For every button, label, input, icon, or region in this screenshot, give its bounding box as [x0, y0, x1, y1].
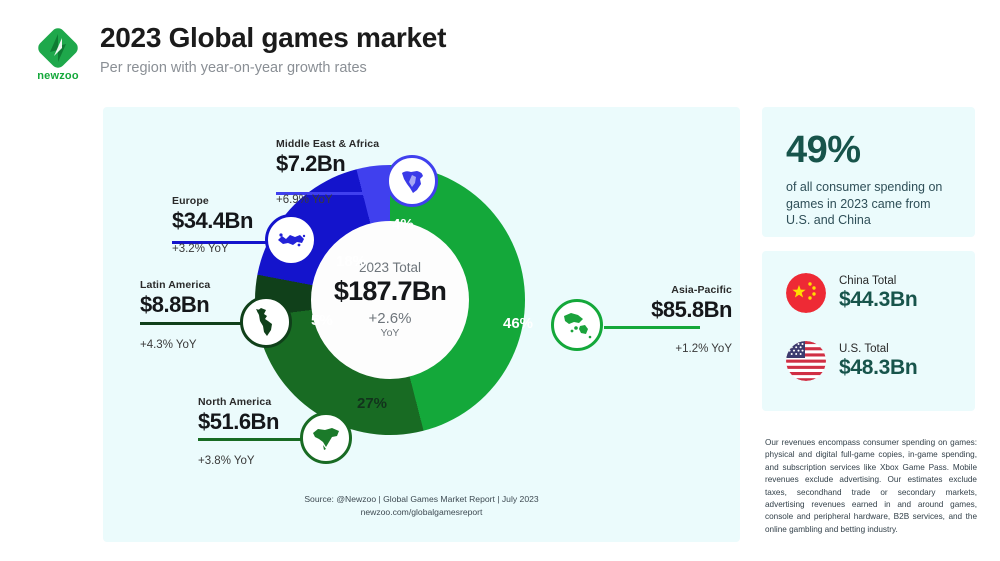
center-growth-value: +2.6%	[369, 310, 412, 327]
logo-wordmark: newzoo	[28, 70, 88, 82]
callout-yoy-latin-america: +4.3% YoY	[140, 339, 197, 351]
connector-asia-pacific	[604, 326, 700, 329]
callout-region-asia-pacific: Asia-Pacific	[612, 284, 732, 296]
callout-value-europe: $34.4Bn	[172, 208, 287, 234]
marker-asia-pacific	[551, 299, 603, 351]
callout-north-america: North America $51.6Bn	[198, 396, 318, 435]
country-row-usa: U.S. Total $48.3Bn	[786, 341, 917, 381]
source-line-2: newzoo.com/globalgamesreport	[103, 506, 740, 519]
country-label-china: China Total	[839, 275, 917, 287]
highlight-panel: 49% of all consumer spending on games in…	[762, 107, 975, 237]
segment-share-europe: 18%	[336, 253, 366, 270]
callout-region-latin-america: Latin America	[140, 279, 255, 291]
highlight-description: of all consumer spending on games in 202…	[786, 179, 958, 229]
newzoo-logo: newzoo	[28, 26, 88, 88]
callout-yoy-europe: +3.2% YoY	[172, 243, 229, 255]
callout-europe: Europe $34.4Bn	[172, 195, 287, 234]
connector-latin-america	[140, 322, 250, 325]
china-flag-icon	[786, 273, 826, 313]
callout-region-europe: Europe	[172, 195, 287, 207]
center-total: $187.7Bn	[334, 276, 446, 307]
usa-flag-icon	[786, 341, 826, 381]
country-row-china: China Total $44.3Bn	[786, 273, 917, 313]
methodology-footnote: Our revenues encompass consumer spending…	[765, 437, 977, 536]
segment-share-latin-america: 5%	[311, 312, 333, 329]
segment-share-mea: 4%	[392, 216, 414, 233]
callout-latin-america: Latin America $8.8Bn	[140, 279, 255, 318]
callout-yoy-asia-pacific: +1.2% YoY	[612, 343, 732, 355]
country-totals-panel: China Total $44.3Bn	[762, 251, 975, 411]
country-value-china: $44.3Bn	[839, 288, 917, 312]
callout-value-asia-pacific: $85.8Bn	[612, 297, 732, 323]
newzoo-diamond-logo-icon	[36, 26, 80, 70]
page-subtitle: Per region with year-on-year growth rate…	[100, 60, 367, 76]
highlight-stat: 49%	[786, 129, 861, 172]
country-label-usa: U.S. Total	[839, 343, 917, 355]
asia-pacific-map-icon	[561, 310, 593, 340]
callout-value-mea: $7.2Bn	[276, 151, 396, 177]
callout-value-latin-america: $8.8Bn	[140, 292, 255, 318]
donut-center: 2023 Total $187.7Bn +2.6% YoY	[311, 221, 469, 379]
center-growth: +2.6% YoY	[369, 311, 412, 341]
page-title: 2023 Global games market	[100, 22, 446, 54]
center-caption: 2023 Total	[359, 260, 421, 275]
center-growth-unit: YoY	[369, 326, 412, 341]
africa-map-icon	[397, 166, 427, 196]
country-value-usa: $48.3Bn	[839, 356, 917, 380]
callout-value-north-america: $51.6Bn	[198, 409, 318, 435]
source-note: Source: @Newzoo | Global Games Market Re…	[103, 493, 740, 519]
callout-region-mea: Middle East & Africa	[276, 138, 396, 150]
source-line-1: Source: @Newzoo | Global Games Market Re…	[103, 493, 740, 506]
page-header: newzoo 2023 Global games market Per regi…	[28, 22, 748, 92]
callout-region-north-america: North America	[198, 396, 318, 408]
callout-mea: Middle East & Africa $7.2Bn	[276, 138, 396, 177]
callout-yoy-north-america: +3.8% YoY	[198, 455, 255, 467]
segment-share-asia-pacific: 46%	[503, 315, 533, 332]
connector-north-america	[198, 438, 310, 441]
callout-asia-pacific: Asia-Pacific $85.8Bn	[612, 284, 732, 323]
latin-america-map-icon	[252, 306, 280, 338]
segment-share-north-america: 27%	[357, 395, 387, 412]
